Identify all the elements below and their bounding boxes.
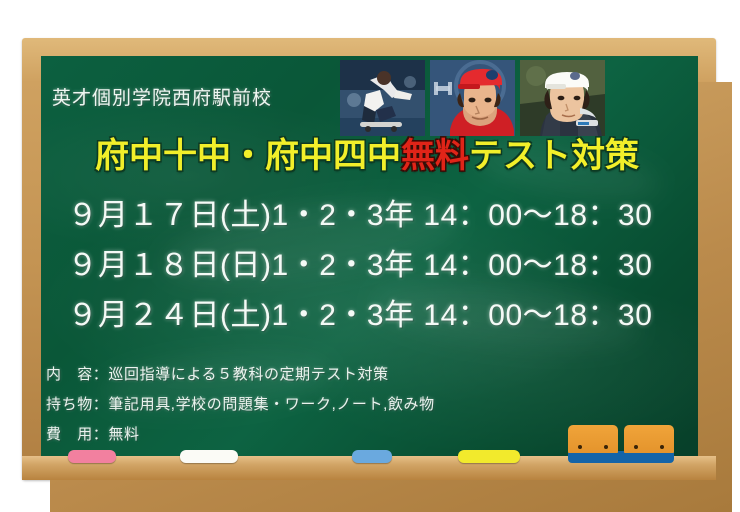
eraser-right xyxy=(624,425,674,453)
eraser-dot xyxy=(604,445,608,449)
schedule-list: ９月１７日(土)1・2・3年 14：00〜18：30 ９月１８日(日)1・2・3… xyxy=(60,194,660,344)
detail-line-bring: 持ち物：筆記用具,学校の問題集・ワーク,ノート,飲み物 xyxy=(46,390,646,420)
photo-golfer xyxy=(520,60,605,136)
photo-strip xyxy=(340,60,605,136)
headline-part-schools: 府中十中・府中四中 xyxy=(95,137,401,175)
chalk-white xyxy=(180,450,238,463)
school-name: 英才個別学院西府駅前校 xyxy=(52,83,272,110)
chalkboard-poster: 英才個別学院西府駅前校 府中十中・府中四中無料テスト対策 ９月１７日(土)1・2… xyxy=(0,0,740,498)
page-title: 府中十中・府中四中無料テスト対策 xyxy=(95,139,639,173)
eraser-dot xyxy=(634,445,638,449)
schedule-line: ９月１７日(土)1・2・3年 14：00〜18：30 xyxy=(60,194,660,244)
chalk-pink xyxy=(68,450,116,463)
chalk-blue xyxy=(352,450,392,463)
schedule-line: ９月２４日(土)1・2・3年 14：00〜18：30 xyxy=(60,294,660,344)
details-list: 内 容：巡回指導による５教科の定期テスト対策 持ち物：筆記用具,学校の問題集・ワ… xyxy=(46,360,646,450)
eraser-left xyxy=(568,425,618,453)
schedule-line: ９月１８日(日)1・2・3年 14：00〜18：30 xyxy=(60,244,660,294)
headline-part-free: 無料 xyxy=(401,137,469,175)
detail-line-content: 内 容：巡回指導による５教科の定期テスト対策 xyxy=(46,360,646,390)
eraser-dot xyxy=(578,445,582,449)
chalk-yellow xyxy=(458,450,520,463)
headline-part-test-prep: テスト対策 xyxy=(469,137,639,175)
photo-skateboarder xyxy=(340,60,425,136)
blackboard-eraser-set xyxy=(568,425,674,463)
eraser-dot xyxy=(660,445,664,449)
photo-baseball-player xyxy=(430,60,515,136)
detail-line-fee: 費 用：無料 xyxy=(46,420,646,450)
